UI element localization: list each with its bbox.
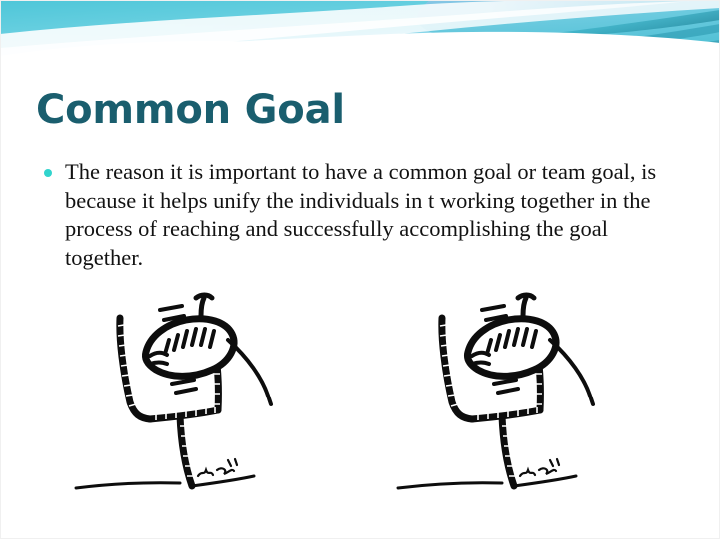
presentation-slide: Common Goal The reason it is important t… <box>0 0 720 539</box>
football-goalpost-cartoon-right <box>390 280 638 502</box>
football-goalpost-cartoon-left <box>68 280 316 502</box>
bullet-list-item: The reason it is important to have a com… <box>40 158 688 272</box>
slide-title: Common Goal <box>36 86 345 134</box>
decorative-wave-banner <box>0 0 720 72</box>
bullet-item-text: The reason it is important to have a com… <box>65 158 688 272</box>
picture-row <box>0 280 720 502</box>
bullet-dot-icon <box>44 169 52 177</box>
body-bullet-list: The reason it is important to have a com… <box>40 158 688 272</box>
